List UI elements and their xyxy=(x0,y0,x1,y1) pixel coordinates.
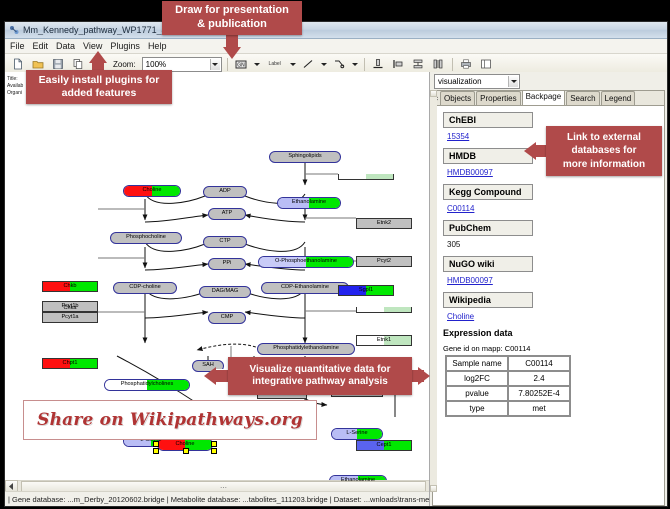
print-icon[interactable] xyxy=(458,56,475,73)
node-label: O-Phosphoethanolamine xyxy=(275,259,337,265)
menu-data[interactable]: Data xyxy=(56,41,75,51)
db-link-nugo-wiki[interactable]: HMDB00097 xyxy=(447,276,664,285)
toolbar-separator-2 xyxy=(364,58,365,71)
tab-backpage[interactable]: Backpage xyxy=(522,90,566,105)
annotation-draw-line2: & publication xyxy=(197,18,267,32)
new-file-icon[interactable] xyxy=(9,56,26,73)
gene-id-line: Gene id on mapp: C00114 xyxy=(443,344,664,353)
metabolite-node-o-phosphoethanolamine[interactable]: O-Phosphoethanolamine xyxy=(258,256,354,268)
visualization-value: visualization xyxy=(438,77,482,86)
expression-data-table: Sample name C00114 log2FC 2.4 pvalue 7.8… xyxy=(445,355,571,417)
scroll-down-icon[interactable] xyxy=(430,485,437,492)
line-dropdown-icon[interactable] xyxy=(320,57,328,72)
datanode-dropdown-icon[interactable] xyxy=(253,57,261,72)
tab-legend[interactable]: Legend xyxy=(601,91,636,105)
db-header-wikipedia: Wikipedia xyxy=(443,292,533,308)
chevron-down-icon[interactable] xyxy=(210,59,220,70)
visualization-bar: visualization xyxy=(430,72,667,90)
annotation-draw-line1: Draw for presentation xyxy=(175,4,289,18)
annotation-plugins-arrow-head xyxy=(89,51,107,63)
status-bar: | Gene database: ...m_Derby_20120602.bri… xyxy=(5,491,429,506)
db-header-hmdb: HMDB xyxy=(443,148,533,164)
metabolite-node-phosphatidylethanolamine[interactable]: Phosphatidylethanolamine xyxy=(257,343,355,355)
zoom-value: 100% xyxy=(146,60,166,69)
table-row: log2FC 2.4 xyxy=(446,371,570,386)
annotation-links-line2: databases for xyxy=(571,144,636,158)
menu-file[interactable]: File xyxy=(10,41,25,51)
node-label: Ethanolamine xyxy=(292,200,326,206)
metabolite-node-atp[interactable]: ATP xyxy=(208,208,246,220)
annotation-visualize-arrow-head xyxy=(204,367,216,385)
node-label: Chpt1 xyxy=(63,361,78,367)
annotation-draw-arrow-head xyxy=(223,47,241,59)
node-label: Etnk2 xyxy=(377,221,391,227)
db-link-wikipedia[interactable]: Choline xyxy=(447,312,664,321)
node-label: CMP xyxy=(221,315,233,321)
db-header-kegg-compound: Kegg Compound xyxy=(443,184,533,200)
node-label: DAG/MAG xyxy=(212,289,238,295)
tab-objects[interactable]: Objects xyxy=(440,91,475,105)
annotation-visualize-line1: Visualize quantitative data for xyxy=(250,364,391,377)
visualization-combobox[interactable]: visualization xyxy=(434,74,520,89)
db-header-chebi: ChEBI xyxy=(443,112,533,128)
annotation-plugins-line2: added features xyxy=(62,87,137,100)
annotation-plugins-callout: Easily install plugins for added feature… xyxy=(26,70,172,104)
gene-node-etnk1[interactable]: Etnk1 xyxy=(356,335,412,346)
anchor-dropdown-icon[interactable] xyxy=(351,57,359,72)
gene-node-pcyt1a[interactable]: Pcyt1a xyxy=(42,312,98,323)
metabolite-node-ethanolamine-top[interactable]: Ethanolamine xyxy=(277,197,341,209)
metabolite-node-choline-top[interactable]: Choline xyxy=(123,185,181,197)
metabolite-node-sphingolipids[interactable]: Sphingolipids xyxy=(269,151,341,163)
resize-handle-sw[interactable] xyxy=(153,448,159,454)
annotation-share: Share on Wikipathways.org xyxy=(23,400,317,440)
tabstrip: Objects Properties Backpage Search Legen… xyxy=(433,91,664,106)
pathvisio-icon xyxy=(9,25,19,35)
annotation-links-callout: Link to external databases for more info… xyxy=(546,126,662,176)
node-label: Phosphatidylcholines xyxy=(121,382,174,388)
annotation-visualize-arrow-head-right xyxy=(418,367,430,385)
node-label: ADP xyxy=(219,189,231,195)
node-label: Pcyt2 xyxy=(377,259,391,265)
metabolite-node-ppi[interactable]: PPi xyxy=(208,258,246,270)
cell-value: met xyxy=(508,401,570,416)
svg-text:GN: GN xyxy=(237,62,245,68)
metabolite-node-cdp-choline[interactable]: CDP-choline xyxy=(113,282,177,294)
toolbar-separator xyxy=(227,58,228,71)
node-label: CTP xyxy=(219,239,230,245)
node-label: Etnk1 xyxy=(377,338,391,344)
properties-icon[interactable] xyxy=(478,56,495,73)
status-text: | Gene database: ...m_Derby_20120602.bri… xyxy=(8,495,430,504)
node-label: ATP xyxy=(222,211,232,217)
menu-help[interactable]: Help xyxy=(148,41,167,51)
node-label: Phosphocholine xyxy=(126,235,166,241)
db-header-pubchem: PubChem xyxy=(443,220,533,236)
expression-data-title: Expression data xyxy=(443,328,664,338)
pathway-canvas[interactable]: Title: Availab Organi xyxy=(5,72,430,506)
cell-label: log2FC xyxy=(446,371,508,386)
label-icon[interactable]: Label xyxy=(264,56,286,73)
annotation-draw-callout: Draw for presentation & publication xyxy=(162,1,302,35)
gene-node-pcyt2[interactable]: Pcyt2 xyxy=(356,256,412,267)
tab-search[interactable]: Search xyxy=(566,91,599,105)
cell-value: C00114 xyxy=(508,356,570,371)
node-label: Pcyt1a xyxy=(61,315,78,321)
annotation-links-line1: Link to external xyxy=(567,131,641,145)
annotation-links-line3: more information xyxy=(563,158,645,172)
anchor-icon[interactable] xyxy=(331,56,348,73)
gene-node-cept1[interactable]: Cept1 xyxy=(356,440,412,451)
db-value-pubchem: 305 xyxy=(447,240,664,249)
node-label: Choline xyxy=(143,188,162,194)
cell-label: pvalue xyxy=(446,386,508,401)
gene-node-etnk2[interactable]: Etnk2 xyxy=(356,218,412,229)
node-label: Sgpl1 xyxy=(359,288,373,294)
node-label: Cept1 xyxy=(377,443,392,449)
node-label: Pcyt1b xyxy=(61,304,78,310)
resize-handle-w[interactable] xyxy=(153,441,159,447)
common-width-icon[interactable] xyxy=(430,56,447,73)
cell-value: 2.4 xyxy=(508,371,570,386)
window-titlebar: Mm_Kennedy_pathway_WP1771_45176.gpml xyxy=(5,22,667,39)
screenshot-root: Mm_Kennedy_pathway_WP1771_45176.gpml Fil… xyxy=(0,0,670,509)
node-label: Ethanolamine xyxy=(341,478,375,484)
gene-node-sgpl1-lower xyxy=(338,174,394,180)
annotation-share-text: Share on Wikipathways.org xyxy=(37,410,303,430)
metabolite-node-phosphatidylcholines[interactable]: Phosphatidylcholines xyxy=(104,379,190,391)
metabolite-node-l-serine-right[interactable]: L-Serine xyxy=(331,428,383,440)
align-bottom-icon[interactable] xyxy=(370,56,387,73)
tab-properties[interactable]: Properties xyxy=(476,91,520,105)
node-label: Choline xyxy=(176,442,195,448)
gene-node-chkb[interactable]: Chkb xyxy=(42,281,98,292)
metabolite-node-phosphocholine[interactable]: Phosphocholine xyxy=(110,232,182,244)
label-button-text: Label xyxy=(269,61,281,67)
zoom-label: Zoom: xyxy=(113,60,136,69)
resize-handle-se[interactable] xyxy=(211,448,217,454)
metabolite-node-ctp[interactable]: CTP xyxy=(203,236,247,248)
annotation-visualize-callout: Visualize quantitative data for integrat… xyxy=(228,357,412,395)
toolbar-separator-3 xyxy=(452,58,453,71)
metabolite-node-cmp[interactable]: CMP xyxy=(208,312,246,324)
node-label: PPi xyxy=(223,261,232,267)
node-label: CDP-choline xyxy=(129,285,160,291)
align-left-icon[interactable] xyxy=(390,56,407,73)
metabolite-node-dagmag[interactable]: DAG/MAG xyxy=(199,286,251,298)
node-label: L-Serine xyxy=(346,431,367,437)
resize-handle-e[interactable] xyxy=(211,441,217,447)
metabolite-node-cdp-ethanolamine[interactable]: CDP-Ethanolamine xyxy=(261,282,349,294)
gene-node-cept1-lower xyxy=(356,307,412,313)
line-icon[interactable] xyxy=(300,56,317,73)
table-row: type met xyxy=(446,401,570,416)
node-label: Chkb xyxy=(63,284,76,290)
annotation-visualize-line2: integrative pathway analysis xyxy=(252,376,388,389)
scroll-up-icon[interactable] xyxy=(430,90,437,97)
menu-edit[interactable]: Edit xyxy=(33,41,49,51)
gene-node-chpt1[interactable]: Chpt1 xyxy=(42,358,98,369)
node-label: Phosphatidylethanolamine xyxy=(273,346,339,352)
label-dropdown-icon[interactable] xyxy=(289,57,297,72)
resize-handle-s[interactable] xyxy=(183,448,189,454)
cell-label: type xyxy=(446,401,508,416)
gene-node-sgpl1[interactable]: Sgpl1 xyxy=(338,285,394,296)
cell-label: Sample name xyxy=(446,356,508,371)
metabolite-node-adp[interactable]: ADP xyxy=(203,186,247,198)
table-row: pvalue 7.80252E-4 xyxy=(446,386,570,401)
stack-vertical-icon[interactable] xyxy=(410,56,427,73)
db-link-kegg-compound[interactable]: C00114 xyxy=(447,204,664,213)
cell-value: 7.80252E-4 xyxy=(508,386,570,401)
sidebar-vertical-scrollbar[interactable] xyxy=(430,90,437,492)
node-label: CDP-Ethanolamine xyxy=(281,285,329,291)
menu-view[interactable]: View xyxy=(83,41,102,51)
chevron-down-icon[interactable] xyxy=(508,76,518,87)
annotation-plugins-line1: Easily install plugins for xyxy=(39,74,160,87)
db-header-nugo-wiki: NuGO wiki xyxy=(443,256,533,272)
menu-plugins[interactable]: Plugins xyxy=(110,41,140,51)
node-label: Sphingolipids xyxy=(288,154,321,160)
table-row: Sample name C00114 xyxy=(446,356,570,371)
annotation-links-arrow-head xyxy=(524,142,536,160)
